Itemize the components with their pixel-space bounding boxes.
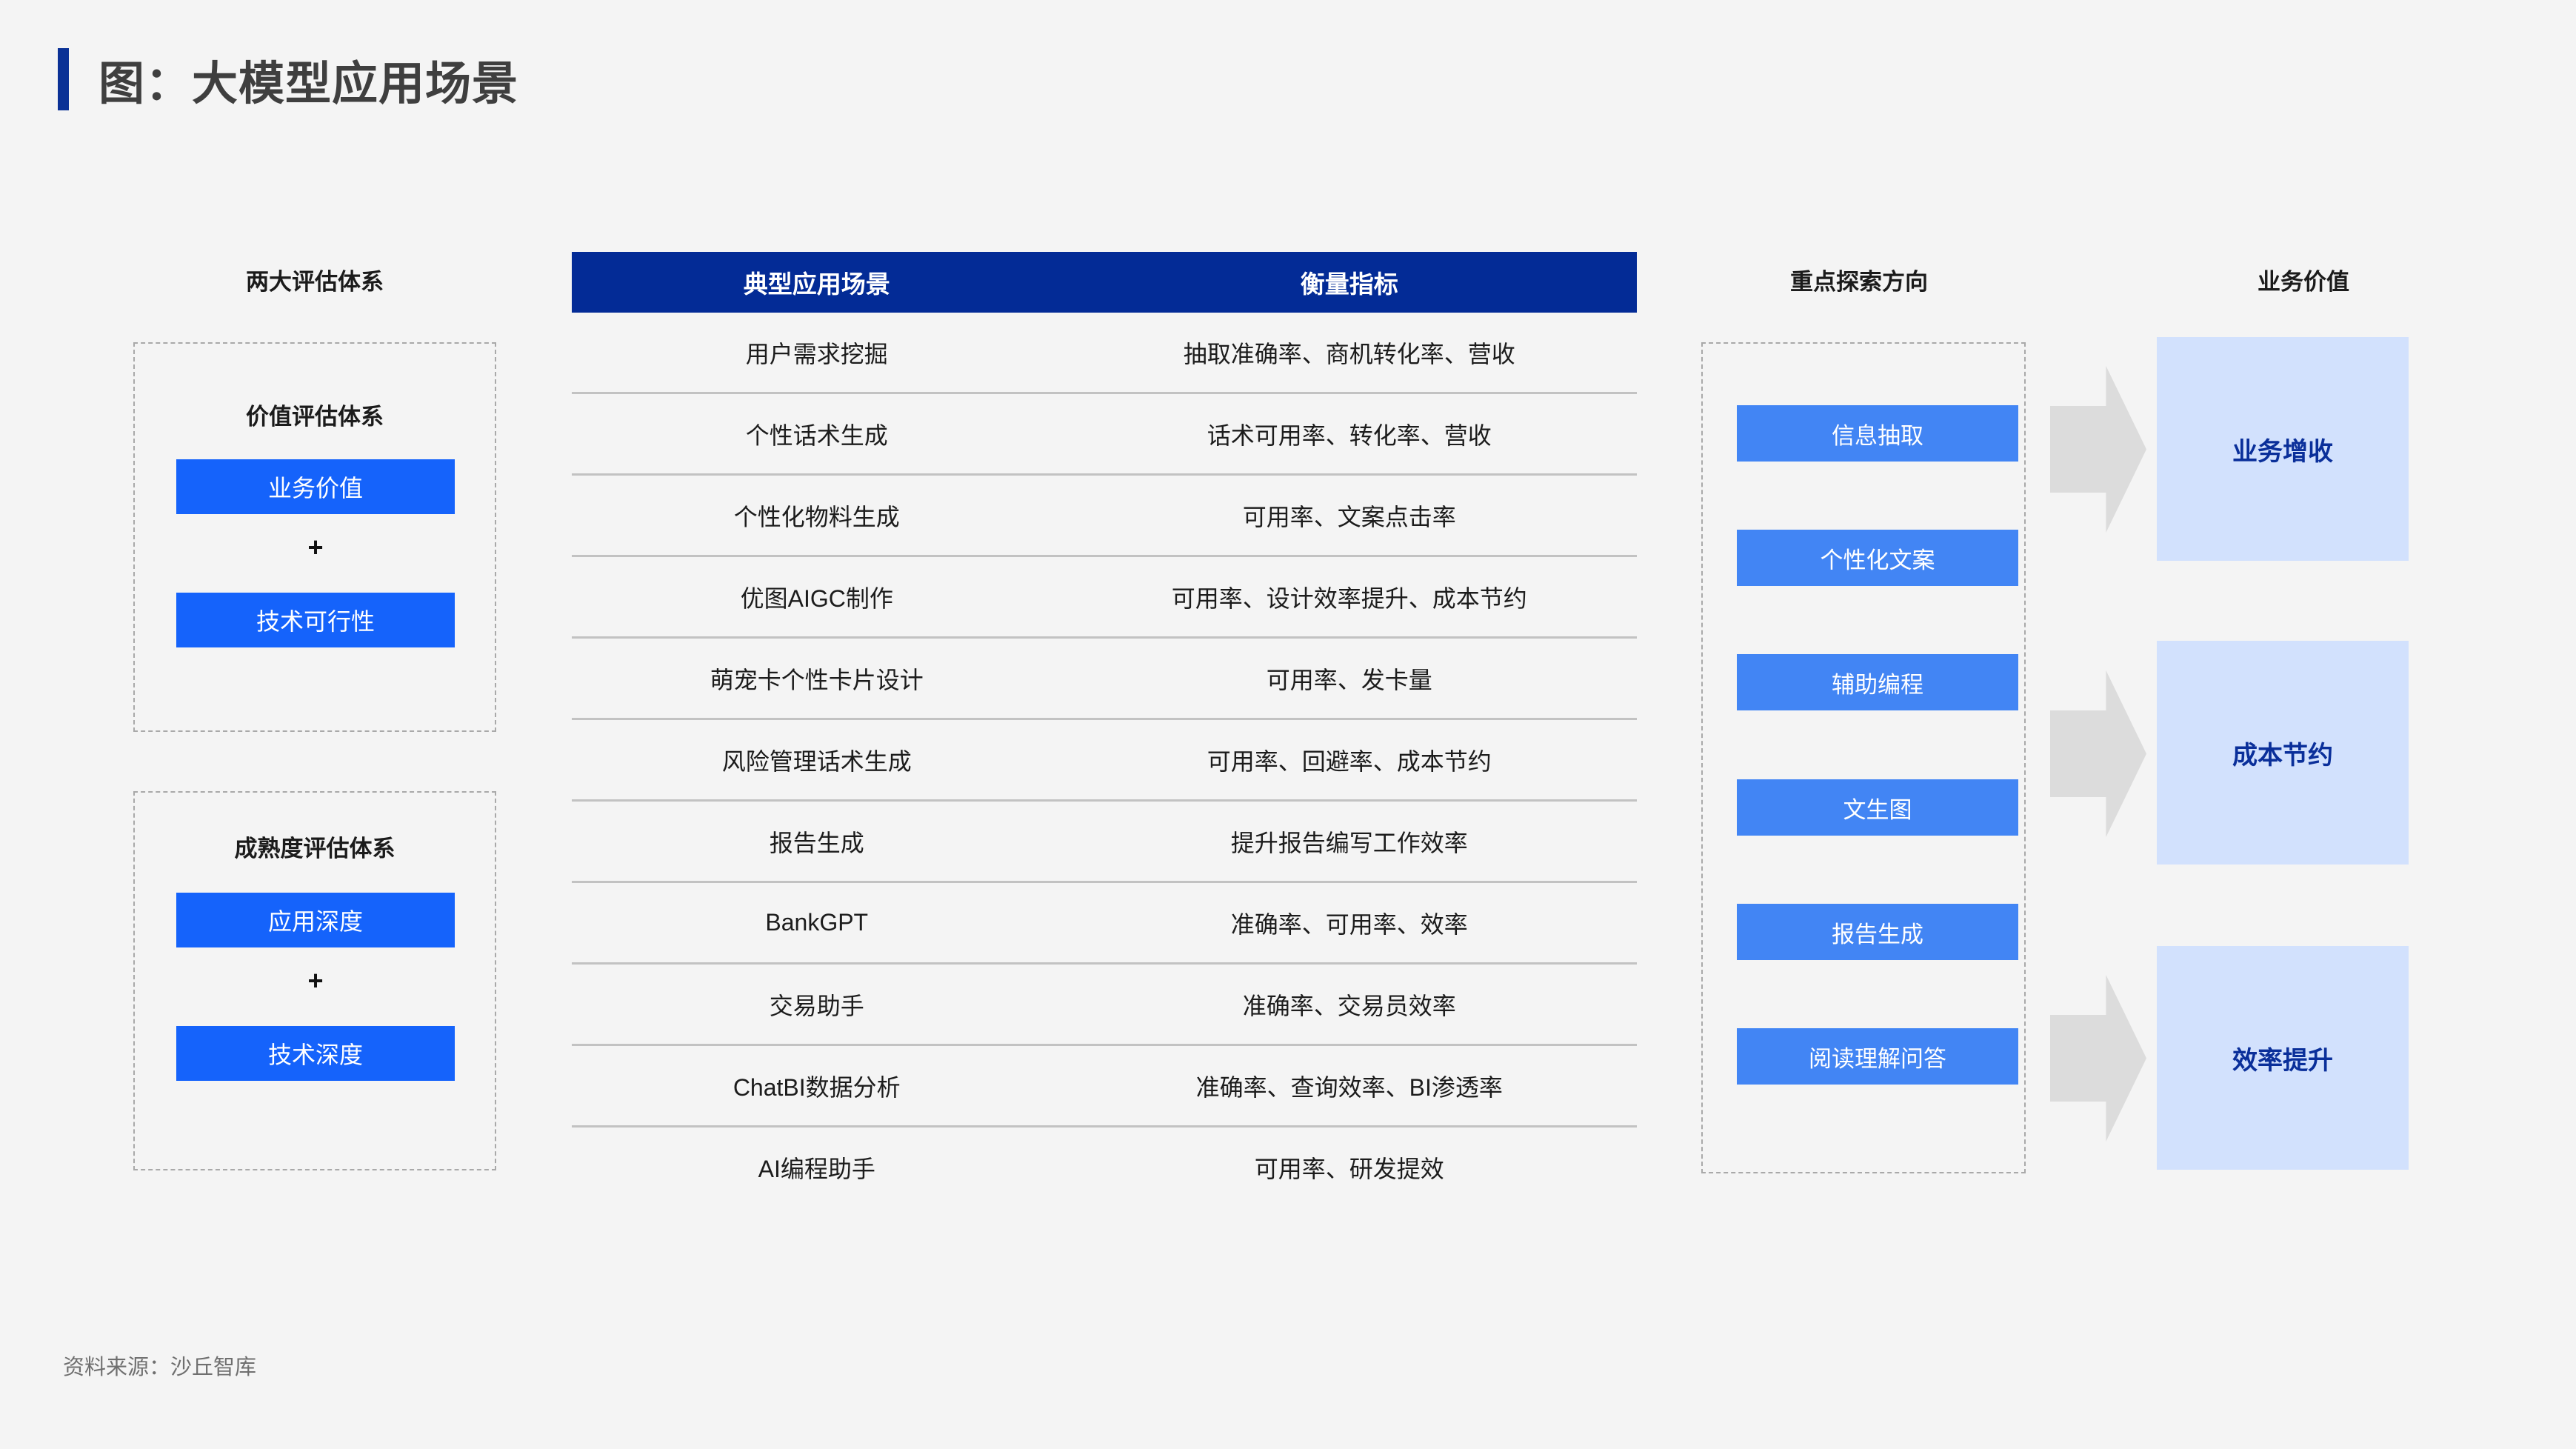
- table-row: 报告生成提升报告编写工作效率: [572, 802, 1637, 883]
- value-box-business-growth: 业务增收: [2157, 337, 2409, 561]
- table-header-metric: 衡量指标: [1061, 264, 1637, 300]
- cell-metric: 可用率、回避率、成本节约: [1061, 743, 1637, 777]
- value-box-cost-saving: 成本节约: [2157, 641, 2409, 865]
- value-column-heading: 业务价值: [2148, 263, 2459, 296]
- cell-scenario: 报告生成: [572, 825, 1061, 859]
- arrow-right-icon: [2050, 670, 2146, 837]
- explore-column-heading: 重点探索方向: [1696, 263, 2022, 296]
- cell-metric: 话术可用率、转化率、营收: [1061, 417, 1637, 451]
- value-box-efficiency: 效率提升: [2157, 946, 2409, 1170]
- table-row: 个性话术生成话术可用率、转化率、营收: [572, 394, 1637, 476]
- table-header-row: 典型应用场景 衡量指标: [572, 252, 1637, 313]
- cell-metric: 提升报告编写工作效率: [1061, 825, 1637, 859]
- cell-scenario: ChatBI数据分析: [572, 1069, 1061, 1103]
- maturity-system-title: 成熟度评估体系: [133, 830, 496, 863]
- cell-scenario: 风险管理话术生成: [572, 743, 1061, 777]
- cell-metric: 抽取准确率、商机转化率、营收: [1061, 336, 1637, 370]
- source-note: 资料来源：沙丘智库: [63, 1350, 256, 1381]
- chip-assisted-coding[interactable]: 辅助编程: [1737, 654, 2018, 710]
- table-row: 优图AIGC制作可用率、设计效率提升、成本节约: [572, 557, 1637, 639]
- table-row: AI编程助手可用率、研发提效: [572, 1127, 1637, 1207]
- table-row: 交易助手准确率、交易员效率: [572, 965, 1637, 1046]
- cell-scenario: 萌宠卡个性卡片设计: [572, 662, 1061, 696]
- value-system-title: 价值评估体系: [133, 398, 496, 431]
- scenarios-table: 典型应用场景 衡量指标 用户需求挖掘抽取准确率、商机转化率、营收个性话术生成话术…: [572, 252, 1637, 1207]
- cell-metric: 可用率、文案点击率: [1061, 499, 1637, 533]
- table-row: ChatBI数据分析准确率、查询效率、BI渗透率: [572, 1046, 1637, 1127]
- cell-scenario: 用户需求挖掘: [572, 336, 1061, 370]
- cell-metric: 可用率、发卡量: [1061, 662, 1637, 696]
- chip-technical-depth[interactable]: 技术深度: [176, 1026, 455, 1081]
- cell-metric: 可用率、设计效率提升、成本节约: [1061, 580, 1637, 614]
- chip-tech-feasibility[interactable]: 技术可行性: [176, 593, 455, 647]
- table-body: 用户需求挖掘抽取准确率、商机转化率、营收个性话术生成话术可用率、转化率、营收个性…: [572, 313, 1637, 1207]
- table-row: 个性化物料生成可用率、文案点击率: [572, 476, 1637, 557]
- chip-info-extraction[interactable]: 信息抽取: [1737, 405, 2018, 462]
- title-accent-bar: [58, 48, 69, 110]
- cell-scenario: AI编程助手: [572, 1150, 1061, 1185]
- plus-connector-maturity: +: [176, 965, 455, 996]
- page-title-text: 图：大模型应用场景: [99, 46, 518, 113]
- cell-scenario: 交易助手: [572, 987, 1061, 1022]
- page-title: 图：大模型应用场景: [58, 46, 518, 113]
- table-row: 萌宠卡个性卡片设计可用率、发卡量: [572, 639, 1637, 720]
- cell-scenario: BankGPT: [572, 909, 1061, 936]
- table-header-scenario: 典型应用场景: [572, 264, 1061, 300]
- cell-metric: 可用率、研发提效: [1061, 1150, 1637, 1185]
- cell-metric: 准确率、查询效率、BI渗透率: [1061, 1069, 1637, 1103]
- chip-report-generation[interactable]: 报告生成: [1737, 904, 2018, 960]
- table-row: 用户需求挖掘抽取准确率、商机转化率、营收: [572, 313, 1637, 394]
- cell-scenario: 个性化物料生成: [572, 499, 1061, 533]
- chip-personalized-copy[interactable]: 个性化文案: [1737, 530, 2018, 586]
- cell-metric: 准确率、可用率、效率: [1061, 906, 1637, 940]
- arrow-right-icon: [2050, 366, 2146, 533]
- chip-text-to-image[interactable]: 文生图: [1737, 779, 2018, 836]
- cell-scenario: 优图AIGC制作: [572, 580, 1061, 614]
- table-row: 风险管理话术生成可用率、回避率、成本节约: [572, 720, 1637, 802]
- left-column-heading: 两大评估体系: [130, 263, 500, 296]
- table-row: BankGPT准确率、可用率、效率: [572, 883, 1637, 965]
- arrow-right-icon: [2050, 975, 2146, 1142]
- chip-business-value[interactable]: 业务价值: [176, 459, 455, 514]
- plus-connector-value: +: [176, 532, 455, 563]
- chip-reading-comprehension-qa[interactable]: 阅读理解问答: [1737, 1028, 2018, 1085]
- cell-metric: 准确率、交易员效率: [1061, 987, 1637, 1022]
- chip-application-depth[interactable]: 应用深度: [176, 893, 455, 947]
- cell-scenario: 个性话术生成: [572, 417, 1061, 451]
